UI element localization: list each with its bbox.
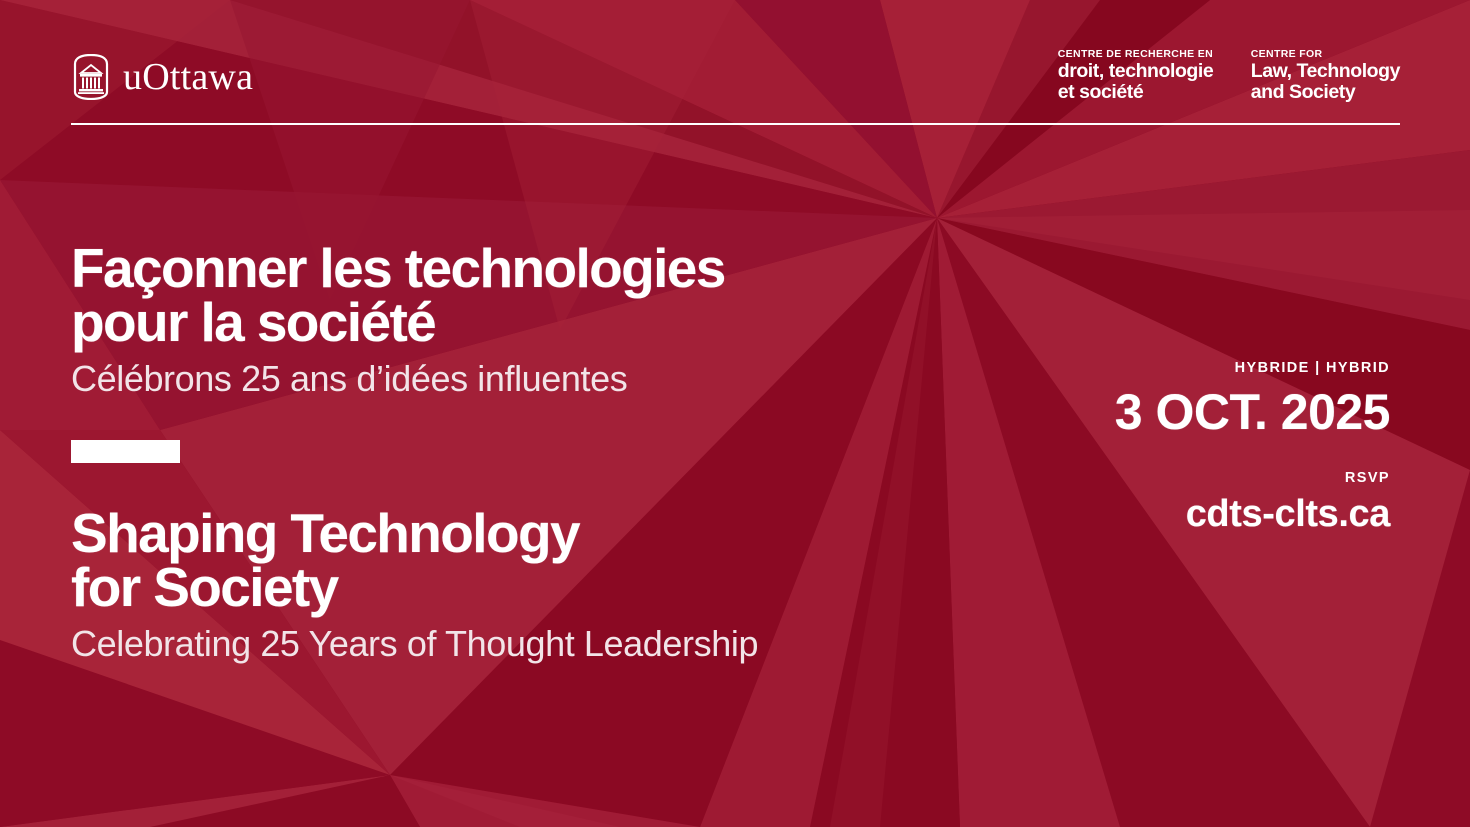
centre-logo-divider [1231,48,1233,102]
headline-english: Shaping Technology for Society [71,507,971,615]
centre-en-name-line2: and Society [1251,81,1356,103]
centre-fr-name-line2: et société [1058,81,1143,103]
centre-logo-fr: CENTRE DE RECHERCHE EN droit, technologi… [1058,48,1213,102]
uottawa-logo: uOttawa [71,54,253,100]
event-info-block: HYBRIDE | HYBRID 3 OCT. 2025 RSVP cdts-c… [1115,361,1390,536]
headline-english-line2: for Society [71,561,971,615]
headline-english-line1: Shaping Technology [71,507,971,561]
editorial-block: Façonner les technologies pour la sociét… [71,242,971,666]
event-banner: uOttawa CENTRE DE RECHERCHE EN droit, te… [0,0,1470,827]
uottawa-wordmark: uOttawa [123,58,253,96]
centre-logo-en: CENTRE FOR Law, Technology and Society [1251,48,1400,102]
section-rule-bar [71,440,180,463]
headline-french-line1: Façonner les technologies [71,242,971,296]
rsvp-label: RSVP [1115,471,1390,486]
event-format-label: HYBRIDE | HYBRID [1115,361,1390,376]
subhead-french: Célébrons 25 ans d’idées influentes [71,358,971,400]
headline-french-line2: pour la société [71,296,971,350]
banner-header: uOttawa CENTRE DE RECHERCHE EN droit, te… [71,48,1400,126]
header-divider-rule [71,123,1400,125]
subhead-english: Celebrating 25 Years of Thought Leadersh… [71,623,971,665]
event-rsvp-url[interactable]: cdts-clts.ca [1115,494,1390,536]
headline-french: Façonner les technologies pour la sociét… [71,242,971,350]
event-date: 3 OCT. 2025 [1115,386,1390,439]
centre-fr-kicker: CENTRE DE RECHERCHE EN [1058,48,1213,60]
uottawa-crest-icon [71,54,111,100]
centre-fr-name-line1: droit, technologie [1058,60,1213,82]
centre-en-name-line1: Law, Technology [1251,60,1400,82]
centre-en-kicker: CENTRE FOR [1251,48,1400,60]
centre-logos: CENTRE DE RECHERCHE EN droit, technologi… [1058,48,1400,102]
